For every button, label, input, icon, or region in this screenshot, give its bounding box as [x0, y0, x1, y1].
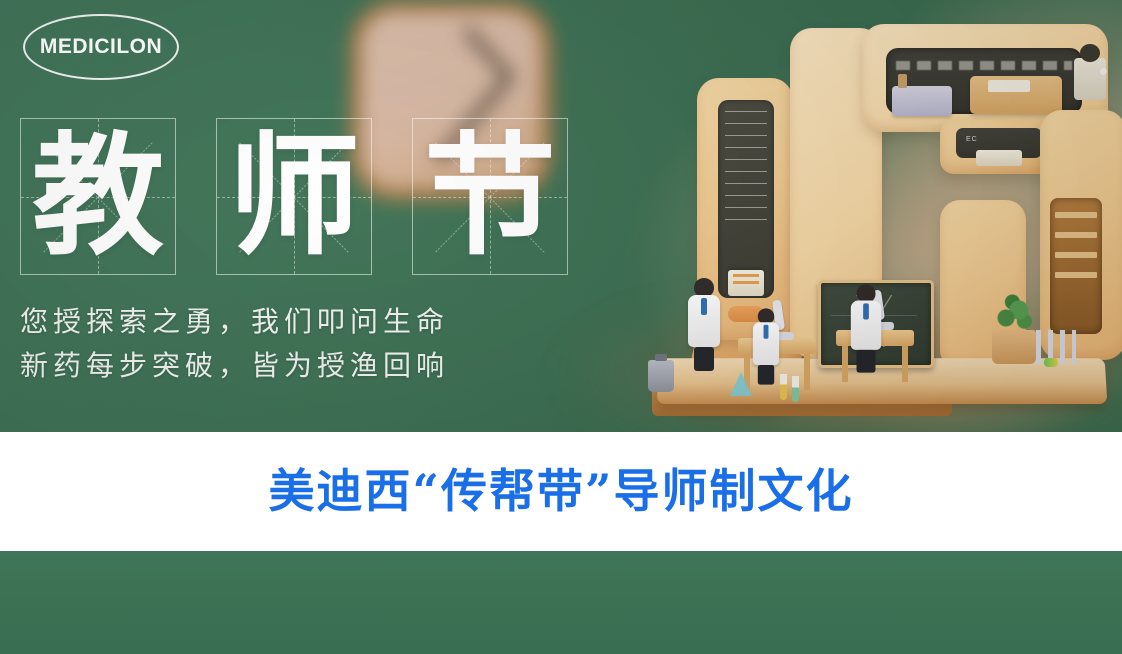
chalk-writing	[896, 61, 1072, 70]
flask-icon	[730, 372, 752, 396]
festival-character: 教	[21, 119, 175, 274]
character-cell-3: 节	[412, 118, 568, 275]
beaker-icon	[648, 360, 674, 392]
sample-vial	[1044, 358, 1058, 367]
board-line	[725, 111, 767, 112]
paper-sheet	[728, 270, 764, 296]
researcher-figure	[688, 278, 720, 371]
subtitle-line-2: 新药每步突破，皆为授渔回响	[20, 344, 620, 388]
shelf-dot	[1100, 68, 1107, 75]
banner-subtitle: 您授探索之勇，我们叩问生命 新药每步突破，皆为授渔回响	[20, 300, 620, 388]
board-line	[725, 195, 767, 196]
researcher-figure	[851, 284, 881, 372]
page-title: 美迪西“传帮带”导师制文化	[0, 455, 1122, 521]
board-line	[725, 207, 767, 208]
character-cell-2: 师	[216, 118, 372, 275]
sub-blackboard-text: EC	[966, 136, 978, 143]
bookcase	[1050, 198, 1102, 334]
board-line	[725, 171, 767, 172]
teacher-character-illustration: EC	[640, 0, 1122, 432]
festival-title: 教 师 节	[20, 118, 568, 275]
medicilon-logo[interactable]: MEDICILON	[23, 14, 179, 80]
books-stack	[892, 86, 952, 116]
shelf-plant-pot	[1074, 58, 1106, 100]
board-line	[725, 147, 767, 148]
character-cell-1: 教	[20, 118, 176, 275]
festival-character: 节	[413, 119, 567, 274]
sub-shelf-paper	[976, 150, 1022, 166]
test-tube-icon	[780, 374, 787, 400]
shelf-desk	[970, 76, 1062, 114]
board-line	[725, 183, 767, 184]
test-tube-icon	[792, 376, 799, 402]
board-line	[725, 159, 767, 160]
board-line	[725, 219, 767, 220]
logo-text: MEDICILON	[40, 35, 162, 59]
board-line	[725, 123, 767, 124]
hero-banner: MEDICILON 教 师 节 您授探索之勇，我们叩问生命 新药每步突破，皆为授	[0, 0, 1122, 432]
board-line	[725, 135, 767, 136]
potted-plant	[992, 330, 1036, 364]
festival-character: 师	[217, 119, 371, 274]
subtitle-line-1: 您授探索之勇，我们叩问生命	[20, 300, 620, 344]
researcher-figure	[753, 308, 779, 384]
vertical-blackboard	[718, 100, 774, 298]
footer-block	[0, 551, 1122, 654]
